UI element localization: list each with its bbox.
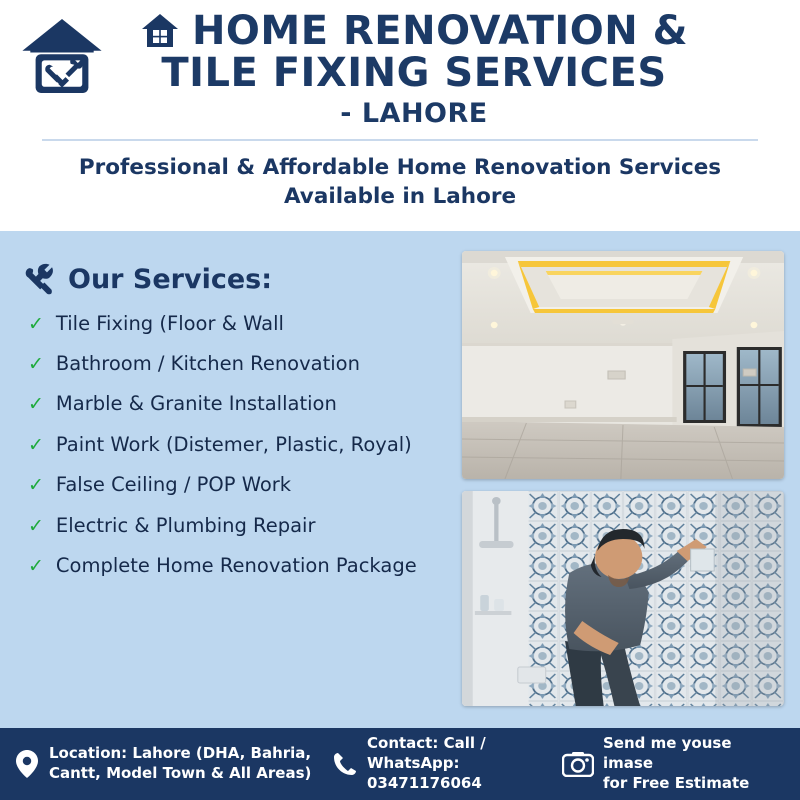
body-section: Our Services: ✓ Tile Fixing (Floor & Wal… — [0, 231, 800, 728]
list-item: ✓ Tile Fixing (Floor & Wall — [22, 313, 452, 335]
camera-icon — [562, 751, 594, 777]
check-icon: ✓ — [28, 315, 44, 334]
footer-location-line1: Lahore (DHA, Bahria, — [132, 744, 311, 762]
footer-estimate-line2: for Free Estimate — [603, 774, 786, 794]
footer-location-text: Location: Lahore (DHA, Bahria, Cantt, Mo… — [49, 744, 311, 784]
house-with-tools-icon — [18, 12, 106, 100]
footer-phone-number: 03471176064 — [367, 774, 482, 792]
footer-contact-text: Contact: Call / WhatsApp: 03471176064 — [367, 734, 562, 793]
poster-root: HOME RENOVATION & TILE FIXING SERVICES -… — [0, 0, 800, 800]
footer-contact-block[interactable]: Contact: Call / WhatsApp: 03471176064 — [332, 734, 562, 793]
list-item: ✓ Marble & Granite Installation — [22, 393, 452, 415]
page-title-line1: HOME RENOVATION & — [192, 10, 688, 52]
list-item: ✓ False Ceiling / POP Work — [22, 474, 452, 496]
photo-column — [462, 249, 784, 722]
footer-estimate-text: Send me youse imase for Free Estimate — [603, 734, 786, 793]
check-icon: ✓ — [28, 476, 44, 495]
list-item: ✓ Complete Home Renovation Package — [22, 555, 452, 577]
check-icon: ✓ — [28, 557, 44, 576]
tagline-line2: Available in Lahore — [48, 182, 752, 211]
check-icon: ✓ — [28, 436, 44, 455]
service-label: Tile Fixing (Floor & Wall — [56, 313, 284, 335]
title-line1-row: HOME RENOVATION & — [116, 10, 712, 52]
check-icon: ✓ — [28, 395, 44, 414]
crossed-tools-icon — [24, 263, 58, 297]
list-item: ✓ Paint Work (Distemer, Plastic, Royal) — [22, 434, 452, 456]
house-window-icon — [140, 11, 180, 51]
footer-contact-label: Contact: — [367, 734, 438, 752]
service-label: Complete Home Renovation Package — [56, 555, 417, 577]
footer-bar: Location: Lahore (DHA, Bahria, Cantt, Mo… — [0, 728, 800, 800]
footer-location-line2: Cantt, Model Town & All Areas) — [49, 764, 311, 784]
tagline-line1: Professional & Affordable Home Renovatio… — [48, 153, 752, 182]
list-item: ✓ Bathroom / Kitchen Renovation — [22, 353, 452, 375]
footer-location-block: Location: Lahore (DHA, Bahria, Cantt, Mo… — [14, 744, 332, 784]
page-title-line2: TILE FIXING SERVICES — [116, 52, 712, 95]
footer-location-label: Location: — [49, 744, 127, 762]
phone-icon — [332, 751, 358, 777]
empty-room-false-ceiling-photo — [462, 251, 784, 479]
footer-estimate-line1: Send me youse imase — [603, 734, 786, 774]
header: HOME RENOVATION & TILE FIXING SERVICES -… — [0, 0, 800, 231]
worker-tiling-wall-photo — [462, 491, 784, 706]
title-block: HOME RENOVATION & TILE FIXING SERVICES -… — [116, 10, 782, 129]
list-item: ✓ Electric & Plumbing Repair — [22, 515, 452, 537]
check-icon: ✓ — [28, 517, 44, 536]
service-label: False Ceiling / POP Work — [56, 474, 291, 496]
footer-estimate-block: Send me youse imase for Free Estimate — [562, 734, 786, 793]
footer-contact-call: Call / — [444, 734, 486, 752]
header-top-row: HOME RENOVATION & TILE FIXING SERVICES -… — [18, 10, 782, 129]
service-label: Marble & Granite Installation — [56, 393, 337, 415]
service-label: Paint Work (Distemer, Plastic, Royal) — [56, 434, 412, 456]
footer-whatsapp-label: WhatsApp: — [367, 754, 460, 772]
location-pin-icon — [14, 749, 40, 779]
page-title-city: - LAHORE — [116, 98, 712, 129]
service-label: Bathroom / Kitchen Renovation — [56, 353, 360, 375]
services-heading: Our Services: — [68, 264, 272, 295]
services-panel: Our Services: ✓ Tile Fixing (Floor & Wal… — [16, 249, 452, 722]
services-list: ✓ Tile Fixing (Floor & Wall ✓ Bathroom /… — [22, 313, 452, 578]
services-heading-row: Our Services: — [24, 263, 452, 297]
check-icon: ✓ — [28, 355, 44, 374]
tagline: Professional & Affordable Home Renovatio… — [18, 141, 782, 225]
service-label: Electric & Plumbing Repair — [56, 515, 316, 537]
